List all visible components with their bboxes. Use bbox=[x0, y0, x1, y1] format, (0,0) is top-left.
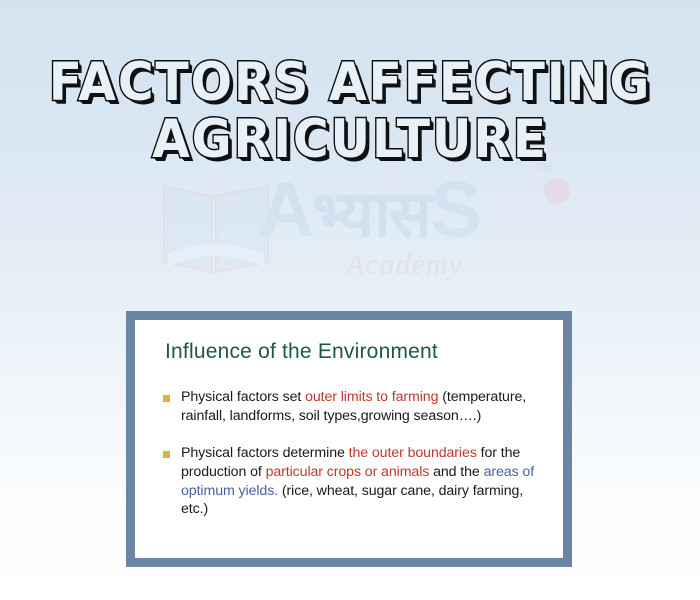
watermark-wordmark: Aभ्यासS bbox=[258, 170, 480, 248]
bullet-text-segment: Physical factors set bbox=[181, 389, 305, 405]
page-title: FACTORS AFFECTING AGRICULTURE bbox=[0, 58, 700, 166]
open-book-icon bbox=[160, 180, 272, 276]
slide-heading: Influence of the Environment bbox=[165, 340, 545, 364]
watermark-letter-a: A bbox=[258, 165, 312, 253]
bullet-text: Physical factors determine the outer bou… bbox=[181, 444, 545, 520]
bullet-text-segment: Physical factors determine bbox=[181, 445, 349, 461]
bullet-text-segment: outer limits to farming bbox=[305, 389, 438, 405]
bullet-text-segment: and the bbox=[429, 464, 483, 480]
slide-frame: Influence of the Environment Physical fa… bbox=[126, 311, 572, 567]
watermark-academy-text: Academy bbox=[346, 248, 463, 282]
slide-content: Influence of the Environment Physical fa… bbox=[135, 320, 563, 558]
watermark-devanagari: भ्यास bbox=[312, 178, 430, 250]
bullet-item: Physical factors set outer limits to far… bbox=[163, 388, 545, 426]
page-root: Aभ्यासS Academy TM FACTORS AFFECTING AGR… bbox=[0, 0, 700, 600]
bullet-text-segment: the outer boundaries bbox=[349, 445, 477, 461]
bullet-square-icon bbox=[163, 395, 170, 402]
watermark-dot-icon bbox=[544, 178, 570, 204]
title-line-2: AGRICULTURE bbox=[28, 115, 672, 166]
bullet-text: Physical factors set outer limits to far… bbox=[181, 388, 545, 426]
watermark-logo: Aभ्यासS Academy TM bbox=[150, 168, 570, 298]
bullet-list: Physical factors set outer limits to far… bbox=[163, 388, 545, 519]
watermark-letter-s: S bbox=[430, 165, 480, 253]
bullet-square-icon bbox=[163, 451, 170, 458]
bullet-item: Physical factors determine the outer bou… bbox=[163, 444, 545, 520]
trademark-icon: TM bbox=[536, 162, 552, 174]
bullet-text-segment: particular crops or animals bbox=[266, 464, 430, 480]
title-line-1: FACTORS AFFECTING bbox=[28, 58, 672, 109]
